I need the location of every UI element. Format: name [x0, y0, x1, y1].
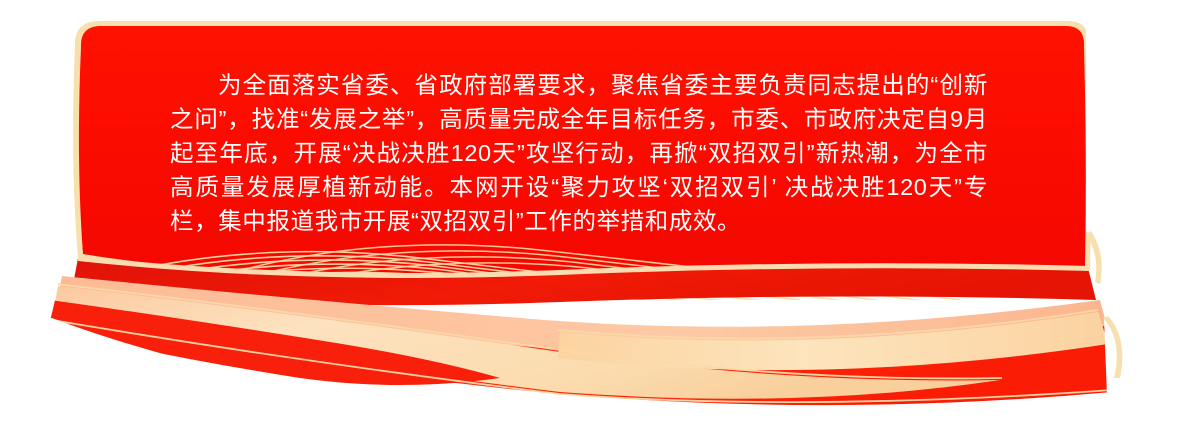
banner-body-paragraph: 为全面落实省委、省政府部署要求，聚焦省委主要负责同志提出的“创新之问”，找准“发… — [170, 68, 988, 238]
banner-text-block: 为全面落实省委、省政府部署要求，聚焦省委主要负责同志提出的“创新之问”，找准“发… — [170, 68, 988, 238]
banner-root: 为全面落实省委、省政府部署要求，聚焦省委主要负责同志提出的“创新之问”，找准“发… — [0, 0, 1200, 422]
